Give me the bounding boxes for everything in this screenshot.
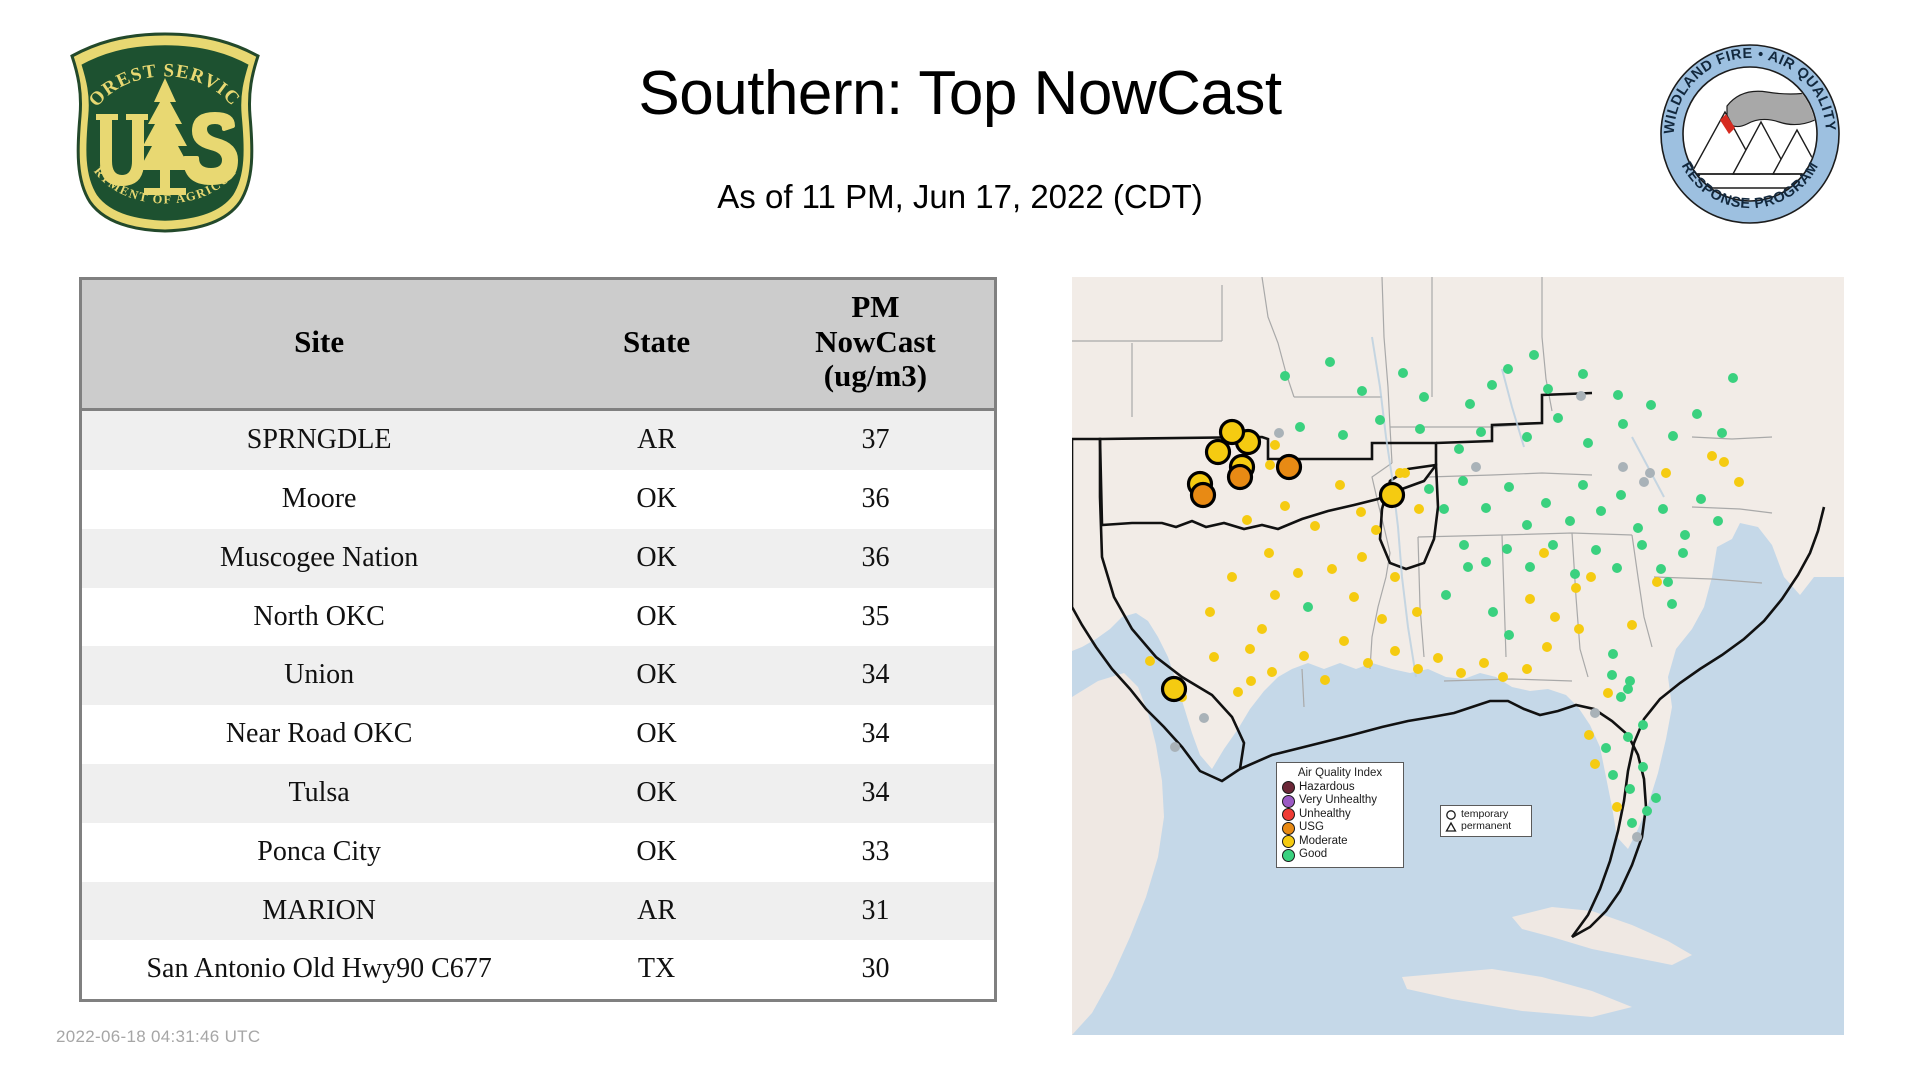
monitor-marker[interactable]: [1646, 400, 1656, 410]
monitor-marker[interactable]: [1541, 498, 1551, 508]
table-row[interactable]: Ponca CityOK33: [82, 823, 994, 882]
monitor-marker[interactable]: [1338, 430, 1348, 440]
monitor-marker[interactable]: [1356, 507, 1366, 517]
monitor-marker[interactable]: [1270, 440, 1280, 450]
table-row[interactable]: UnionOK34: [82, 646, 994, 705]
monitor-marker[interactable]: [1502, 544, 1512, 554]
monitor-marker[interactable]: [1488, 607, 1498, 617]
monitor-marker[interactable]: [1463, 562, 1473, 572]
monitor-marker[interactable]: [1618, 462, 1628, 472]
aqi-legend-label: USG: [1299, 822, 1324, 834]
aqi-legend-label: Moderate: [1299, 836, 1348, 848]
monitor-marker[interactable]: [1550, 612, 1560, 622]
monitor-marker[interactable]: [1280, 371, 1290, 381]
aqi-legend-item: Good: [1282, 849, 1398, 862]
monitor-marker[interactable]: [1652, 577, 1662, 587]
monitor-marker[interactable]: [1339, 636, 1349, 646]
cell-site: Muscogee Nation: [82, 529, 556, 588]
monitor-marker[interactable]: [1357, 552, 1367, 562]
monitor-marker[interactable]: [1638, 720, 1648, 730]
aqi-legend-item: Hazardous: [1282, 781, 1398, 794]
monitor-marker[interactable]: [1419, 392, 1429, 402]
monitor-marker[interactable]: [1692, 409, 1702, 419]
column-header-pm-nowcast: PM NowCast (ug/m3): [757, 280, 994, 410]
monitor-marker[interactable]: [1295, 422, 1305, 432]
aqi-legend-label: Good: [1299, 849, 1327, 861]
monitor-marker[interactable]: [1678, 548, 1688, 558]
monitor-marker[interactable]: [1663, 577, 1673, 587]
monitor-marker[interactable]: [1548, 540, 1558, 550]
monitor-marker[interactable]: [1398, 368, 1408, 378]
monitor-marker[interactable]: [1522, 520, 1532, 530]
column-header-pm-line3: (ug/m3): [824, 358, 927, 393]
aqi-legend-rows: HazardousVery UnhealthyUnhealthyUSGModer…: [1282, 781, 1398, 862]
aqi-swatch-icon: [1282, 781, 1295, 794]
monitor-marker[interactable]: [1553, 413, 1563, 423]
monitor-marker[interactable]: [1642, 806, 1652, 816]
monitor-marker[interactable]: [1170, 742, 1180, 752]
monitor-marker[interactable]: [1616, 692, 1626, 702]
monitor-type-legend: temporary permanent: [1440, 805, 1532, 837]
monitor-marker[interactable]: [1734, 477, 1744, 487]
aqi-legend-title: Air Quality Index: [1282, 767, 1398, 779]
top-site-marker[interactable]: Muscogee Nation: [1278, 456, 1301, 479]
table-head: Site State PM NowCast (ug/m3): [82, 280, 994, 410]
monitor-marker[interactable]: [1591, 545, 1601, 555]
monitor-marker[interactable]: [1412, 607, 1422, 617]
table-row[interactable]: MARIONAR31: [82, 882, 994, 941]
monitor-marker[interactable]: [1303, 602, 1313, 612]
aqi-monitor-map[interactable]: SPRNGDLEMooreMuscogee NationNorth OKCUni…: [1072, 277, 1844, 1035]
monitor-marker[interactable]: [1227, 572, 1237, 582]
monitor-marker[interactable]: [1576, 391, 1586, 401]
aqi-legend-label: Unhealthy: [1299, 809, 1351, 821]
cell-pm-nowcast: 33: [757, 823, 994, 882]
aqi-legend-item: USG: [1282, 822, 1398, 835]
monitor-marker[interactable]: [1728, 373, 1738, 383]
monitor-marker[interactable]: [1543, 384, 1553, 394]
cell-state: OK: [556, 588, 757, 647]
cell-pm-nowcast: 36: [757, 529, 994, 588]
legend-row-temporary: temporary: [1445, 809, 1527, 821]
cell-pm-nowcast: 30: [757, 940, 994, 999]
monitor-marker[interactable]: [1607, 670, 1617, 680]
monitor-marker[interactable]: [1265, 460, 1275, 470]
generation-timestamp: 2022-06-18 04:31:46 UTC: [56, 1027, 260, 1047]
top-site-marker[interactable]: Moore: [1207, 441, 1230, 464]
top-nowcast-table: Site State PM NowCast (ug/m3) SPRNGDLEAR…: [82, 280, 994, 999]
monitor-marker[interactable]: [1433, 653, 1443, 663]
monitor-marker[interactable]: [1264, 548, 1274, 558]
monitor-marker[interactable]: [1638, 762, 1648, 772]
cell-pm-nowcast: 34: [757, 764, 994, 823]
table-row[interactable]: Near Road OKCOK34: [82, 705, 994, 764]
legend-label-permanent: permanent: [1461, 821, 1511, 832]
monitor-marker[interactable]: [1414, 504, 1424, 514]
monitor-marker[interactable]: [1656, 564, 1666, 574]
monitor-marker[interactable]: [1707, 451, 1717, 461]
cell-site: Moore: [82, 470, 556, 529]
usfs-shield-icon: FOREST SERVICE DEPARTMENT OF AGRICULTURE: [58, 30, 273, 235]
monitor-marker[interactable]: [1578, 480, 1588, 490]
monitor-marker[interactable]: [1680, 530, 1690, 540]
monitor-marker[interactable]: [1371, 525, 1381, 535]
monitor-marker[interactable]: [1458, 476, 1468, 486]
aqi-swatch-icon: [1282, 795, 1295, 808]
aqi-swatch-icon: [1282, 822, 1295, 835]
table-header-row: Site State PM NowCast (ug/m3): [82, 280, 994, 410]
monitor-marker[interactable]: [1299, 651, 1309, 661]
monitor-marker[interactable]: [1608, 649, 1618, 659]
cell-pm-nowcast: 34: [757, 705, 994, 764]
monitor-marker[interactable]: [1377, 614, 1387, 624]
monitor-marker[interactable]: [1465, 399, 1475, 409]
monitor-marker[interactable]: [1349, 592, 1359, 602]
monitor-marker[interactable]: [1542, 642, 1552, 652]
aqi-swatch-icon: [1282, 849, 1295, 862]
map-canvas[interactable]: SPRNGDLEMooreMuscogee NationNorth OKCUni…: [1072, 277, 1844, 1035]
monitor-marker[interactable]: [1325, 357, 1335, 367]
monitor-marker[interactable]: [1612, 563, 1622, 573]
cell-site: Near Road OKC: [82, 705, 556, 764]
monitor-marker[interactable]: [1625, 676, 1635, 686]
cell-state: OK: [556, 529, 757, 588]
monitor-marker[interactable]: [1590, 708, 1600, 718]
monitor-marker[interactable]: [1603, 688, 1613, 698]
page-title: Southern: Top NowCast: [360, 58, 1560, 129]
monitor-marker[interactable]: [1415, 424, 1425, 434]
usfs-shield-logo: FOREST SERVICE DEPARTMENT OF AGRICULTURE: [58, 30, 273, 235]
monitor-marker[interactable]: [1623, 732, 1633, 742]
aqi-legend-label: Hazardous: [1299, 782, 1355, 794]
top-nowcast-table-container: Site State PM NowCast (ug/m3) SPRNGDLEAR…: [79, 277, 997, 1002]
monitor-marker[interactable]: [1413, 664, 1423, 674]
monitor-marker[interactable]: [1375, 415, 1385, 425]
monitor-marker[interactable]: [1633, 523, 1643, 533]
top-site-marker[interactable]: Tulsa: [1192, 484, 1215, 507]
monitor-marker[interactable]: [1525, 562, 1535, 572]
monitor-marker[interactable]: [1245, 644, 1255, 654]
monitor-marker[interactable]: [1481, 557, 1491, 567]
cell-pm-nowcast: 34: [757, 646, 994, 705]
monitor-marker[interactable]: [1571, 583, 1581, 593]
cell-site: MARION: [82, 882, 556, 941]
monitor-marker[interactable]: [1667, 599, 1677, 609]
cell-state: OK: [556, 764, 757, 823]
monitor-marker[interactable]: [1583, 438, 1593, 448]
monitor-marker[interactable]: [1357, 386, 1367, 396]
monitor-marker[interactable]: [1625, 784, 1635, 794]
monitor-marker[interactable]: [1390, 646, 1400, 656]
slide-root: FOREST SERVICE DEPARTMENT OF AGRICULTURE…: [0, 0, 1920, 1080]
permanent-triangle-icon: [1445, 821, 1457, 833]
cell-pm-nowcast: 37: [757, 410, 994, 470]
aqi-swatch-icon: [1282, 835, 1295, 848]
monitor-marker[interactable]: [1471, 462, 1481, 472]
monitor-marker[interactable]: [1529, 350, 1539, 360]
cell-site: San Antonio Old Hwy90 C677: [82, 940, 556, 999]
monitor-marker[interactable]: [1257, 624, 1267, 634]
aqi-swatch-icon: [1282, 808, 1295, 821]
monitor-marker[interactable]: [1522, 432, 1532, 442]
monitor-marker[interactable]: [1504, 482, 1514, 492]
table-row[interactable]: TulsaOK34: [82, 764, 994, 823]
legend-label-temporary: temporary: [1461, 809, 1508, 820]
cell-state: OK: [556, 646, 757, 705]
monitor-marker[interactable]: [1242, 515, 1252, 525]
monitor-marker[interactable]: [1719, 457, 1729, 467]
monitor-marker[interactable]: [1267, 667, 1277, 677]
aqi-legend-label: Very Unhealthy: [1299, 795, 1377, 807]
page-subtitle: As of 11 PM, Jun 17, 2022 (CDT): [360, 178, 1560, 216]
column-header-site: Site: [82, 280, 556, 410]
monitor-marker[interactable]: [1310, 521, 1320, 531]
monitor-marker[interactable]: [1525, 594, 1535, 604]
cell-site: Union: [82, 646, 556, 705]
top-site-marker[interactable]: Union: [1229, 466, 1252, 489]
monitor-marker[interactable]: [1233, 687, 1243, 697]
monitor-marker[interactable]: [1590, 759, 1600, 769]
monitor-marker[interactable]: [1601, 743, 1611, 753]
monitor-marker[interactable]: [1584, 730, 1594, 740]
monitor-marker[interactable]: [1479, 658, 1489, 668]
monitor-marker[interactable]: [1456, 668, 1466, 678]
cell-pm-nowcast: 36: [757, 470, 994, 529]
monitor-marker[interactable]: [1658, 504, 1668, 514]
cell-site: North OKC: [82, 588, 556, 647]
cell-state: OK: [556, 823, 757, 882]
monitor-marker[interactable]: [1570, 569, 1580, 579]
wfaqrp-logo: WILDLAND FIRE • AIR QUALITY RESPONSE PRO…: [1655, 42, 1845, 227]
monitor-marker[interactable]: [1199, 713, 1209, 723]
monitor-marker[interactable]: [1504, 630, 1514, 640]
monitor-marker[interactable]: [1498, 672, 1508, 682]
table-body: SPRNGDLEAR37MooreOK36Muscogee NationOK36…: [82, 410, 994, 999]
cell-pm-nowcast: 31: [757, 882, 994, 941]
monitor-marker[interactable]: [1613, 390, 1623, 400]
monitor-marker[interactable]: [1481, 503, 1491, 513]
cell-pm-nowcast: 35: [757, 588, 994, 647]
monitor-marker[interactable]: [1335, 480, 1345, 490]
monitor-marker[interactable]: [1280, 501, 1290, 511]
monitor-marker[interactable]: [1668, 431, 1678, 441]
monitor-marker[interactable]: [1612, 802, 1622, 812]
cell-site: Ponca City: [82, 823, 556, 882]
column-header-pm-line1: PM: [851, 289, 899, 324]
monitor-marker[interactable]: [1395, 468, 1405, 478]
aqi-legend-item: Very Unhealthy: [1282, 795, 1398, 808]
monitor-marker[interactable]: [1618, 419, 1628, 429]
table-row[interactable]: Muscogee NationOK36: [82, 529, 994, 588]
monitor-marker[interactable]: [1205, 607, 1215, 617]
monitor-marker[interactable]: [1459, 540, 1469, 550]
monitor-marker[interactable]: [1608, 770, 1618, 780]
aqi-legend-item: Moderate: [1282, 835, 1398, 848]
monitor-marker[interactable]: [1627, 818, 1637, 828]
monitor-marker[interactable]: [1270, 590, 1280, 600]
monitor-marker[interactable]: [1522, 664, 1532, 674]
table-row[interactable]: MooreOK36: [82, 470, 994, 529]
monitor-marker[interactable]: [1293, 568, 1303, 578]
temporary-circle-icon: [1445, 809, 1457, 821]
monitor-marker[interactable]: [1574, 624, 1584, 634]
monitor-marker[interactable]: [1441, 590, 1451, 600]
monitor-marker[interactable]: [1320, 675, 1330, 685]
monitor-marker[interactable]: [1645, 468, 1655, 478]
monitor-marker[interactable]: [1476, 427, 1486, 437]
monitor-marker[interactable]: [1713, 516, 1723, 526]
monitor-marker[interactable]: [1717, 428, 1727, 438]
monitor-marker[interactable]: [1627, 620, 1637, 630]
cell-state: AR: [556, 410, 757, 470]
top-site-marker[interactable]: Ponca City: [1221, 421, 1244, 444]
cell-state: AR: [556, 882, 757, 941]
wfaqrp-seal-icon: WILDLAND FIRE • AIR QUALITY RESPONSE PRO…: [1655, 42, 1845, 227]
monitor-marker[interactable]: [1246, 676, 1256, 686]
monitor-marker[interactable]: [1578, 369, 1588, 379]
top-site-marker[interactable]: San Antonio Old Hwy90 C677: [1163, 678, 1186, 701]
monitor-marker[interactable]: [1637, 540, 1647, 550]
monitor-marker[interactable]: [1274, 428, 1284, 438]
monitor-marker[interactable]: [1539, 548, 1549, 558]
monitor-marker[interactable]: [1424, 484, 1434, 494]
monitor-marker[interactable]: [1616, 490, 1626, 500]
column-header-pm-line2: NowCast: [815, 324, 936, 359]
table-row[interactable]: San Antonio Old Hwy90 C677TX30: [82, 940, 994, 999]
cell-state: OK: [556, 470, 757, 529]
column-header-state: State: [556, 280, 757, 410]
monitor-marker[interactable]: [1327, 564, 1337, 574]
monitor-marker[interactable]: [1487, 380, 1497, 390]
aqi-legend: Air Quality Index HazardousVery Unhealth…: [1276, 762, 1404, 868]
monitor-marker[interactable]: [1363, 658, 1373, 668]
monitor-marker[interactable]: [1390, 572, 1400, 582]
monitor-marker[interactable]: [1586, 572, 1596, 582]
monitor-marker[interactable]: [1503, 364, 1513, 374]
top-site-marker[interactable]: MARION: [1381, 484, 1404, 507]
monitor-marker[interactable]: [1696, 494, 1706, 504]
monitor-marker[interactable]: [1209, 652, 1219, 662]
monitor-marker[interactable]: [1661, 468, 1671, 478]
monitor-marker[interactable]: [1565, 516, 1575, 526]
table-row[interactable]: North OKCOK35: [82, 588, 994, 647]
aqi-legend-item: Unhealthy: [1282, 808, 1398, 821]
table-row[interactable]: SPRNGDLEAR37: [82, 410, 994, 470]
monitor-marker[interactable]: [1454, 444, 1464, 454]
cell-state: TX: [556, 940, 757, 999]
cell-state: OK: [556, 705, 757, 764]
legend-row-permanent: permanent: [1445, 821, 1527, 833]
monitor-marker[interactable]: [1145, 656, 1155, 666]
cell-site: SPRNGDLE: [82, 410, 556, 470]
cell-site: Tulsa: [82, 764, 556, 823]
monitor-marker[interactable]: [1439, 504, 1449, 514]
monitor-marker[interactable]: [1632, 832, 1642, 842]
monitor-marker[interactable]: [1596, 506, 1606, 516]
monitor-marker[interactable]: [1651, 793, 1661, 803]
monitor-marker[interactable]: [1639, 477, 1649, 487]
